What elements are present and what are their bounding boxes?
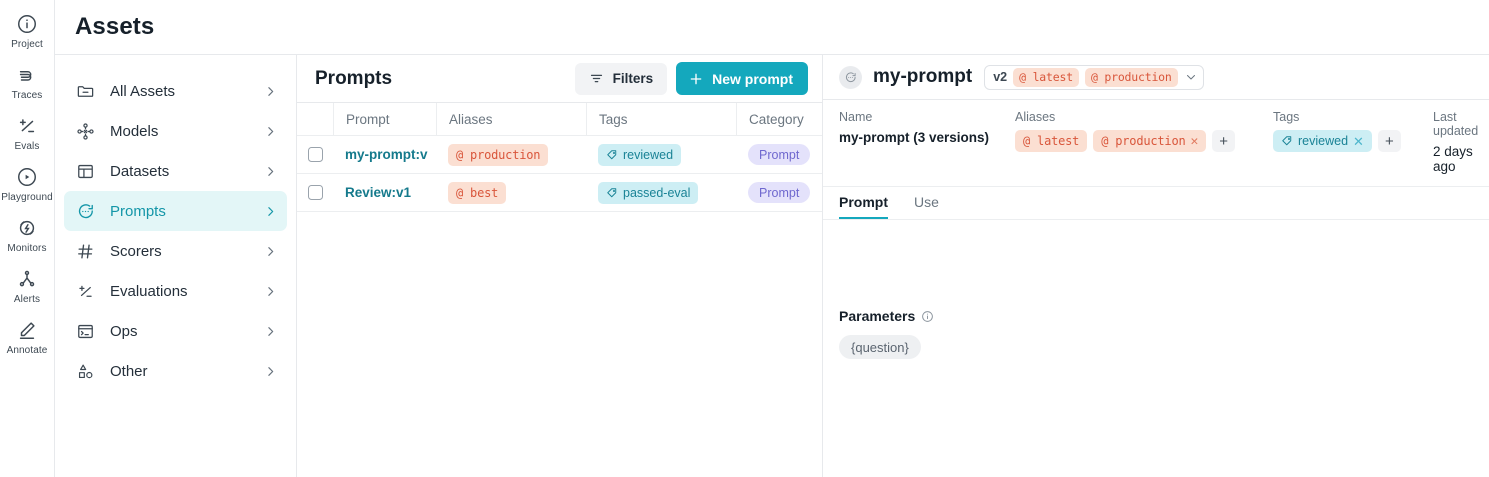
sidebar-label-other: Other xyxy=(110,363,264,380)
column-header-aliases[interactable]: Aliases xyxy=(436,103,586,135)
tag-label: passed-eval xyxy=(623,186,690,200)
meta-aliases-chips: @ latest @ production ✕ + xyxy=(1015,130,1273,152)
tab-prompt[interactable]: Prompt xyxy=(839,194,888,219)
meta-name-value: my-prompt (3 versions) xyxy=(839,130,1015,145)
detail-meta-row: Name my-prompt (3 versions) Aliases @ la… xyxy=(823,100,1489,187)
rail-item-monitors[interactable]: Monitors xyxy=(0,217,55,255)
meta-tags-chips: reviewed ✕ + xyxy=(1273,130,1433,152)
sidebar-label-models: Models xyxy=(110,123,264,140)
rail-label-monitors: Monitors xyxy=(7,243,46,255)
alias-badge[interactable]: @ latest xyxy=(1015,130,1087,152)
rail-label-annotate: Annotate xyxy=(7,345,48,357)
folder-minus-icon xyxy=(76,82,95,101)
nav-sidebar: All Assets Models Datase xyxy=(55,55,297,477)
table-row[interactable]: Review:v1 @ best passed-eval Prompt xyxy=(297,174,822,212)
chevron-right-icon xyxy=(264,365,277,378)
chevron-right-icon xyxy=(264,245,277,258)
meta-tags-label: Tags xyxy=(1273,110,1433,124)
meta-tags-col: Tags reviewed ✕ + xyxy=(1273,110,1433,152)
chevron-right-icon xyxy=(264,205,277,218)
detail-prompt-title: my-prompt xyxy=(873,66,972,88)
remove-alias-icon[interactable]: ✕ xyxy=(1191,135,1199,148)
table-row[interactable]: my-prompt:v @ production reviewed Prompt xyxy=(297,136,822,174)
row-checkbox[interactable] xyxy=(308,185,323,200)
meta-aliases-label: Aliases xyxy=(1015,110,1273,124)
chevron-right-icon xyxy=(264,85,277,98)
annotate-pencil-icon xyxy=(16,319,38,341)
chevron-down-icon xyxy=(1185,71,1197,83)
sidebar-item-all-assets[interactable]: All Assets xyxy=(64,71,287,111)
version-alias-badge: @ production xyxy=(1085,68,1178,87)
detail-header: my-prompt v2 @ latest @ production xyxy=(823,55,1489,100)
row-category-cell: Prompt xyxy=(736,174,822,211)
meta-aliases-col: Aliases @ latest @ production ✕ + xyxy=(1015,110,1273,152)
prompt-message-area: Be brief: {question} xyxy=(823,220,1489,294)
filters-label: Filters xyxy=(613,71,654,86)
category-badge[interactable]: Prompt xyxy=(748,144,810,165)
body-region: All Assets Models Datase xyxy=(55,55,1489,477)
tag-label: reviewed xyxy=(623,148,673,162)
meta-updated-value: 2 days ago xyxy=(1433,144,1478,174)
prompts-list-header: Prompts Filters New prompt xyxy=(297,55,822,103)
sidebar-item-evaluations[interactable]: Evaluations xyxy=(64,271,287,311)
row-aliases-cell: @ best xyxy=(436,174,586,211)
prompts-list-panel: Prompts Filters New prompt Prompt Aliase… xyxy=(297,55,823,477)
row-checkbox[interactable] xyxy=(308,147,323,162)
row-aliases-cell: @ production xyxy=(436,136,586,173)
avatar xyxy=(839,66,862,89)
add-tag-button[interactable]: + xyxy=(1378,130,1401,152)
row-category-cell: Prompt xyxy=(736,136,822,173)
monitors-refresh-icon xyxy=(16,217,38,239)
other-shapes-icon xyxy=(76,362,95,381)
chevron-right-icon xyxy=(264,325,277,338)
traces-stack-icon xyxy=(16,64,38,86)
table-header-row: Prompt Aliases Tags Category xyxy=(297,103,822,136)
rail-label-evals: Evals xyxy=(15,141,40,153)
sidebar-item-datasets[interactable]: Datasets xyxy=(64,151,287,191)
sidebar-item-scorers[interactable]: Scorers xyxy=(64,231,287,271)
sidebar-label-all-assets: All Assets xyxy=(110,83,264,100)
meta-name-label: Name xyxy=(839,110,1015,124)
meta-updated-col: Last updated 2 days ago xyxy=(1433,110,1478,174)
tab-use[interactable]: Use xyxy=(914,194,939,219)
add-alias-button[interactable]: + xyxy=(1212,130,1235,152)
parameter-pill[interactable]: {question} xyxy=(839,335,921,359)
info-icon[interactable] xyxy=(921,310,934,323)
version-number: v2 xyxy=(993,70,1007,84)
new-prompt-label: New prompt xyxy=(712,71,793,87)
sidebar-label-ops: Ops xyxy=(110,323,264,340)
version-alias-badge: @ latest xyxy=(1013,68,1079,87)
tag-label: reviewed xyxy=(1298,134,1348,148)
tag-badge[interactable]: passed-eval xyxy=(598,182,698,204)
new-prompt-button[interactable]: New prompt xyxy=(676,62,808,95)
parameters-header: Parameters xyxy=(839,308,1473,324)
sidebar-item-prompts[interactable]: Prompts xyxy=(64,191,287,231)
meta-updated-label: Last updated xyxy=(1433,110,1478,138)
rail-item-traces[interactable]: Traces xyxy=(0,64,55,102)
alias-badge[interactable]: @ best xyxy=(448,182,506,204)
models-node-icon xyxy=(76,122,95,141)
rail-item-evals[interactable]: Evals xyxy=(0,115,55,153)
filters-button[interactable]: Filters xyxy=(575,63,668,95)
playground-play-circle-icon xyxy=(16,166,38,188)
version-select[interactable]: v2 @ latest @ production xyxy=(984,65,1203,90)
row-select-cell xyxy=(297,136,333,173)
category-badge[interactable]: Prompt xyxy=(748,182,810,203)
sidebar-item-ops[interactable]: Ops xyxy=(64,311,287,351)
rail-label-alerts: Alerts xyxy=(14,294,40,306)
column-header-category[interactable]: Category xyxy=(736,103,822,135)
remove-tag-icon[interactable]: ✕ xyxy=(1353,135,1364,148)
column-header-select xyxy=(297,103,333,135)
row-tags-cell: reviewed xyxy=(586,136,736,173)
rail-item-alerts[interactable]: Alerts xyxy=(0,268,55,306)
prompt-detail-panel: my-prompt v2 @ latest @ production Name … xyxy=(823,55,1489,477)
rail-label-traces: Traces xyxy=(12,90,43,102)
sidebar-label-evaluations: Evaluations xyxy=(110,283,264,300)
tag-icon xyxy=(606,187,618,199)
alerts-bell-icon xyxy=(16,268,38,290)
app-root: Project Traces Evals Playground xyxy=(0,0,1489,477)
sidebar-item-models[interactable]: Models xyxy=(64,111,287,151)
row-select-cell xyxy=(297,174,333,211)
alias-badge[interactable]: @ production xyxy=(448,144,548,166)
sidebar-item-other[interactable]: Other xyxy=(64,351,287,391)
info-circle-icon xyxy=(16,13,38,35)
row-prompt-cell: Review:v1 xyxy=(333,174,436,211)
detail-tabs: Prompt Use xyxy=(823,187,1489,220)
prompt-name-link[interactable]: my-prompt:v xyxy=(345,147,428,162)
meta-name-col: Name my-prompt (3 versions) xyxy=(839,110,1015,145)
rail-label-project: Project xyxy=(11,39,43,51)
datasets-table-icon xyxy=(76,162,95,181)
sidebar-label-datasets: Datasets xyxy=(110,163,264,180)
sidebar-label-prompts: Prompts xyxy=(110,203,264,220)
parameters-title: Parameters xyxy=(839,308,915,324)
tag-badge-removable[interactable]: reviewed ✕ xyxy=(1273,130,1372,152)
chevron-right-icon xyxy=(264,165,277,178)
tag-badge[interactable]: reviewed xyxy=(598,144,681,166)
alias-badge-removable[interactable]: @ production ✕ xyxy=(1093,130,1206,152)
row-tags-cell: passed-eval xyxy=(586,174,736,211)
rail-item-annotate[interactable]: Annotate xyxy=(0,319,55,357)
parameters-section: Parameters {question} xyxy=(823,294,1489,359)
chevron-right-icon xyxy=(264,125,277,138)
icon-rail: Project Traces Evals Playground xyxy=(0,0,55,477)
column-header-tags[interactable]: Tags xyxy=(586,103,736,135)
evals-plus-slash-icon xyxy=(16,115,38,137)
main-region: Assets All Assets xyxy=(55,0,1489,477)
top-bar: Assets xyxy=(55,0,1489,55)
rail-item-project[interactable]: Project xyxy=(0,13,55,51)
evaluations-plus-slash-icon xyxy=(76,282,95,301)
prompts-chat-icon xyxy=(844,71,857,84)
sidebar-label-scorers: Scorers xyxy=(110,243,264,260)
prompts-title: Prompts xyxy=(315,68,575,90)
tag-icon xyxy=(606,149,618,161)
column-header-prompt[interactable]: Prompt xyxy=(333,103,436,135)
scorers-hash-icon xyxy=(76,242,95,261)
alias-label: @ production xyxy=(1101,134,1185,148)
tag-icon xyxy=(1281,135,1293,147)
ops-terminal-icon xyxy=(76,322,95,341)
chevron-right-icon xyxy=(264,285,277,298)
plus-icon xyxy=(688,71,704,87)
prompts-chat-icon xyxy=(76,202,95,221)
filter-icon xyxy=(589,71,604,86)
row-prompt-cell: my-prompt:v xyxy=(333,136,436,173)
rail-item-playground[interactable]: Playground xyxy=(0,166,55,204)
rail-label-playground: Playground xyxy=(1,192,53,204)
prompt-name-link[interactable]: Review:v1 xyxy=(345,185,411,200)
page-title: Assets xyxy=(75,13,154,41)
